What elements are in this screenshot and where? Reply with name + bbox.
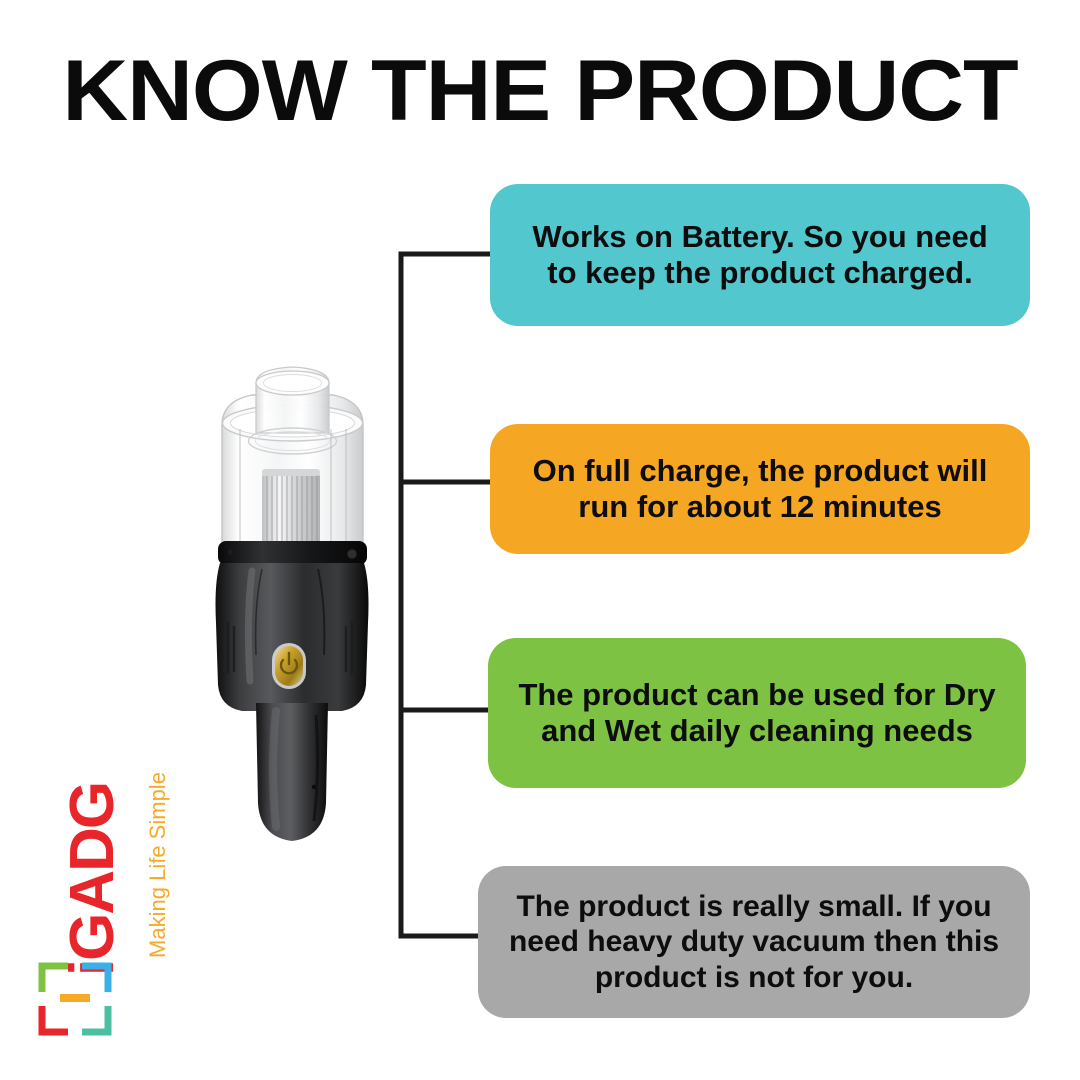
logo-center-bar [60,994,90,1002]
vacuum-body [216,563,369,711]
logo-corner-bottom-left [42,1006,68,1032]
logo-tagline: Making Life Simple [145,765,171,965]
logo-wordmark: iGADG [57,777,128,982]
logo-corner-top-left [42,966,68,992]
logo-bracket-mark-icon [36,960,114,1038]
page-title: KNOW THE PRODUCT [0,48,1080,134]
vacuum-collar [218,541,367,565]
infographic-canvas: KNOW THE PRODUCT Works on Battery. So yo… [0,0,1080,1080]
callout-size-warning: The product is really small. If you need… [478,866,1030,1018]
callout-wet-dry-text: The product can be used for Dry and Wet … [514,677,1000,750]
vacuum-filter [262,469,320,551]
callout-size-warning-text: The product is really small. If you need… [504,889,1004,994]
callout-wet-dry: The product can be used for Dry and Wet … [488,638,1026,788]
bracket-connector [380,220,510,960]
power-button[interactable] [272,643,306,689]
product-image-handheld-vacuum [200,355,385,855]
vacuum-handle [256,703,328,841]
callout-runtime-text: On full charge, the product will run for… [516,453,1004,526]
brand-logo: iGADG Making Life Simple [28,752,188,1052]
callout-battery-text: Works on Battery. So you need to keep th… [516,219,1004,292]
callout-runtime: On full charge, the product will run for… [490,424,1030,554]
logo-corner-top-right [82,966,108,992]
logo-corner-bottom-right [82,1006,108,1032]
callout-battery: Works on Battery. So you need to keep th… [490,184,1030,326]
